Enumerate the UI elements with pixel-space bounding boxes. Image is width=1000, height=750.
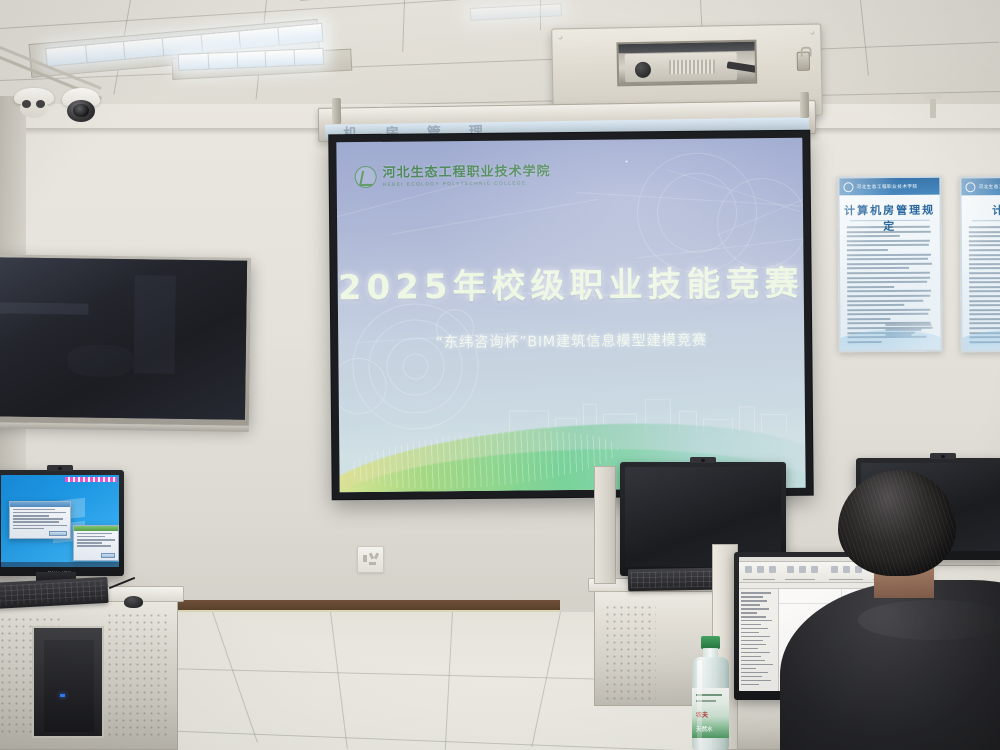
poster-title: 计算机 xyxy=(962,202,1000,219)
projector-vents xyxy=(669,59,715,74)
monitor-webcam-icon xyxy=(690,457,716,463)
desk-perforated-panel xyxy=(604,604,656,700)
wall-poster: 河北生态工程职业技术学院 计算机 xyxy=(959,176,1000,353)
classroom-scene: 机 房 管 理 xyxy=(0,0,1000,750)
college-logo-mark-icon xyxy=(355,166,377,188)
dialog-ok-button[interactable] xyxy=(49,531,67,536)
floor-tile-line xyxy=(330,612,348,749)
monitor-front-left[interactable]: PHILIPS xyxy=(0,470,124,576)
wall-bracket xyxy=(924,94,942,99)
dialog-window[interactable] xyxy=(9,501,71,539)
slide-artifact xyxy=(625,160,627,162)
projection-screen[interactable]: 河北生态工程职业技术学院 HEBEI ECOLOGY POLYTECHNIC C… xyxy=(329,131,812,500)
monitor-screen-front-left[interactable] xyxy=(1,475,119,567)
person-shoulder-highlight xyxy=(858,600,1000,640)
bottle-highlight xyxy=(697,660,702,742)
wall-poster: 河北生态工程职业技术学院 计算机房管理规定 xyxy=(837,176,942,353)
cad-project-browser[interactable] xyxy=(739,589,779,691)
pc-power-led-icon xyxy=(60,694,65,697)
monitor-webcam-icon xyxy=(930,453,956,459)
poster-body-text xyxy=(847,226,934,325)
screen-artifact-stripe xyxy=(65,477,117,482)
slide-subtitle: “东纬咨询杯”BIM建筑信息模型建模竞赛 xyxy=(338,328,804,353)
student-seated xyxy=(838,470,1000,750)
poster-rule xyxy=(972,220,1000,222)
wall-bracket xyxy=(930,96,936,118)
college-logo-en: HEBEI ECOLOGY POLYTECHNIC COLLEGE xyxy=(383,181,551,187)
dialog-titlebar[interactable] xyxy=(74,526,118,531)
ceiling-projector xyxy=(625,52,738,82)
screen-bracket xyxy=(800,92,809,118)
water-bottle[interactable]: 农夫 天然水 xyxy=(690,636,732,750)
person-head xyxy=(838,470,956,576)
dialog-window[interactable] xyxy=(73,525,119,561)
monitor-webcam-icon xyxy=(47,465,73,471)
college-logo: 河北生态工程职业技术学院 HEBEI ECOLOGY POLYTECHNIC C… xyxy=(355,164,551,188)
wall-power-outlet[interactable] xyxy=(357,546,384,573)
windows-taskbar[interactable] xyxy=(1,562,119,567)
poster-header-text: 河北生态工程职业技术学院 xyxy=(856,183,917,189)
screen-bracket xyxy=(332,98,341,124)
poster-wave-decor xyxy=(959,330,1000,353)
projected-slide: 河北生态工程职业技术学院 HEBEI ECOLOGY POLYTECHNIC C… xyxy=(336,138,805,492)
pc-tower[interactable] xyxy=(44,640,94,732)
projector-lens-icon xyxy=(635,62,651,78)
poster-logo-icon xyxy=(965,182,975,192)
floor-tile-line xyxy=(212,612,258,743)
floor-tile-line xyxy=(445,612,453,750)
wall-mounted-tv[interactable] xyxy=(0,254,251,426)
mouse-front-left[interactable] xyxy=(124,596,143,608)
projector-viewing-window xyxy=(616,40,757,87)
dialog-titlebar[interactable] xyxy=(10,502,70,507)
poster-header: 河北生态工程职业技术学院 xyxy=(961,178,1000,196)
college-logo-cn: 河北生态工程职业技术学院 xyxy=(383,165,551,180)
poster-wave-decor xyxy=(837,330,942,353)
slide-title: 2025年校级职业技能竞赛 xyxy=(337,256,803,309)
dialog-ok-button[interactable] xyxy=(101,553,115,558)
pc-cabinet-opening[interactable] xyxy=(32,626,104,738)
desk-divider-panel xyxy=(594,466,616,584)
desk-perforated-panel xyxy=(106,612,170,740)
dome-camera-icon xyxy=(62,88,100,122)
ceiling-grid-line xyxy=(860,0,869,76)
poster-logo-icon xyxy=(843,182,853,192)
tv-screen xyxy=(0,257,247,420)
dome-camera-icon xyxy=(14,88,54,118)
poster-header: 河北生态工程职业技术学院 xyxy=(839,178,939,196)
ceiling-grid-line xyxy=(402,0,405,52)
poster-body-text xyxy=(969,226,1000,325)
ceiling-light-panel xyxy=(470,3,563,21)
windows-desktop[interactable] xyxy=(1,475,119,567)
poster-header-text: 河北生态工程职业技术学院 xyxy=(978,183,1000,189)
floor-tile-line xyxy=(531,612,561,747)
lock-icon[interactable] xyxy=(797,52,810,71)
